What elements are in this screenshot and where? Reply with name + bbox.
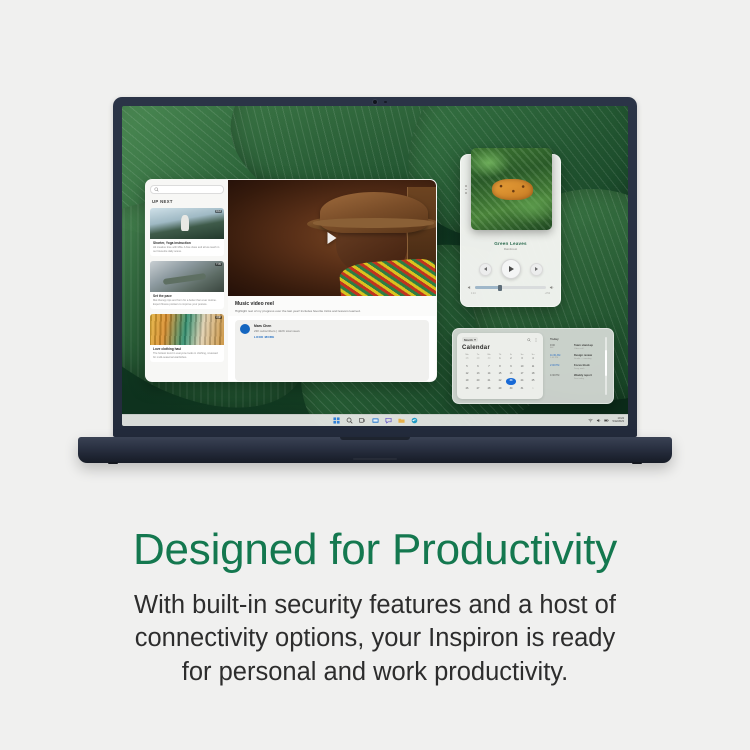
calendar-day[interactable]: 8 bbox=[495, 364, 505, 370]
search-icon bbox=[154, 187, 159, 192]
caption-line-1: With built-in security features and a ho… bbox=[70, 589, 680, 622]
event-row[interactable]: 9:00AMTeam stand-upVideo call bbox=[550, 344, 603, 350]
handle-dots-icon bbox=[465, 185, 467, 194]
list-item-desc: Mat therapy tips and form for a better t… bbox=[153, 299, 221, 306]
system-tray[interactable]: 10:24 5/12/2023 bbox=[588, 415, 624, 426]
chat-icon[interactable] bbox=[384, 417, 392, 425]
event-name: Team stand-up bbox=[574, 344, 593, 347]
calendar-day[interactable]: 27 bbox=[473, 386, 483, 392]
laptop-top-bezel bbox=[113, 97, 637, 106]
calendar-day[interactable]: 1 bbox=[528, 386, 538, 392]
calendar-day[interactable]: 11 bbox=[528, 364, 538, 370]
laptop-product-figure: UP NEXT 4:12 Shorter, Yoga instruction H… bbox=[0, 0, 750, 500]
calendar-day[interactable]: 6 bbox=[473, 364, 483, 370]
events-title: Today bbox=[550, 337, 603, 341]
track-artist: Rainforest bbox=[461, 247, 560, 251]
caption-block: Designed for Productivity With built-in … bbox=[0, 525, 750, 689]
caption-line-3: for personal and work productivity. bbox=[70, 656, 680, 689]
remaining-time: -2:52 bbox=[545, 293, 550, 295]
file-explorer-icon[interactable] bbox=[371, 417, 379, 425]
clock[interactable]: 10:24 5/12/2023 bbox=[612, 418, 624, 424]
laptop-foot bbox=[108, 462, 118, 464]
list-item-title: Love clothing haul bbox=[153, 347, 221, 351]
look-more-button[interactable]: LOOK MORE bbox=[254, 335, 300, 339]
list-item-meta: Shorter, Yoga instruction Hit creative t… bbox=[150, 239, 224, 256]
page-title: Music video reel bbox=[235, 301, 429, 307]
wifi-icon[interactable] bbox=[588, 418, 593, 423]
event-time-start: 4:30 PM bbox=[550, 374, 569, 377]
progress-fill bbox=[475, 286, 500, 289]
calendar-day[interactable]: 15 bbox=[495, 371, 505, 377]
calendar-day[interactable]: 5 bbox=[462, 364, 472, 370]
event-sub: Due today bbox=[574, 378, 592, 380]
event-row[interactable]: 4:30 PMWeekly reportDue today bbox=[550, 374, 603, 380]
calendar-day[interactable]: 28 bbox=[484, 386, 494, 392]
video-thumbnail: 3:48 bbox=[150, 314, 224, 345]
channel-stats: 23K subscribers | 422K total views bbox=[254, 329, 300, 333]
calendar-day-grid[interactable]: 2829301234567891011121314151617181920212… bbox=[462, 356, 538, 392]
calendar-day[interactable]: 13 bbox=[473, 371, 483, 377]
progress-bar[interactable] bbox=[467, 285, 554, 290]
search-icon[interactable] bbox=[345, 417, 353, 425]
music-controls bbox=[461, 259, 560, 279]
list-item[interactable]: 3:48 Love clothing haul The hottest tren… bbox=[150, 314, 224, 362]
caption-line-2: connectivity options, your Inspiron is r… bbox=[70, 622, 680, 655]
scrollbar[interactable] bbox=[605, 337, 607, 395]
more-vertical-icon[interactable] bbox=[534, 338, 538, 342]
calendar-day[interactable]: 16 bbox=[506, 371, 516, 377]
video-app-window[interactable]: UP NEXT 4:12 Shorter, Yoga instruction H… bbox=[145, 179, 437, 382]
progress-track[interactable] bbox=[475, 286, 546, 289]
progress-handle[interactable] bbox=[498, 285, 502, 291]
calendar-day[interactable]: 29 bbox=[495, 386, 505, 392]
calendar-day[interactable]: 30 bbox=[484, 356, 494, 362]
event-time: 11:30 AM1:00 PM bbox=[550, 354, 569, 359]
avatar bbox=[240, 324, 250, 334]
previous-track-icon bbox=[484, 267, 487, 271]
list-item-meta: Love clothing haul The hottest trend in … bbox=[150, 345, 224, 362]
volume-icon[interactable] bbox=[596, 418, 601, 423]
video-thumbnail: 4:12 bbox=[150, 208, 224, 239]
list-item[interactable]: 7:05 Set the pace Mat therapy tips and f… bbox=[150, 261, 224, 309]
caption-body: With built-in security features and a ho… bbox=[0, 589, 750, 688]
next-track-icon bbox=[535, 267, 538, 271]
calendar-day[interactable]: 3 bbox=[517, 356, 527, 362]
volume-low-icon bbox=[467, 285, 472, 290]
list-item-desc: The hottest trend in everyone looks in c… bbox=[153, 352, 221, 359]
event-time-start: 2:00 PM bbox=[550, 364, 569, 367]
elapsed-time: 1:14 bbox=[471, 293, 475, 295]
laptop-foot bbox=[632, 462, 642, 464]
music-player-widget[interactable]: Green Leaves Rainforest bbox=[460, 154, 561, 307]
event-time: 9:00AM bbox=[550, 344, 569, 349]
calendar-day[interactable]: 17 bbox=[517, 371, 527, 377]
calendar-day[interactable]: 22 bbox=[495, 378, 505, 384]
hat-crown bbox=[320, 192, 428, 234]
play-button[interactable] bbox=[501, 259, 521, 279]
calendar-actions bbox=[527, 338, 538, 342]
task-view-icon[interactable] bbox=[358, 417, 366, 425]
calendar-day[interactable]: 10 bbox=[517, 364, 527, 370]
calendar-day-selected[interactable]: 23 bbox=[506, 378, 516, 384]
list-item-desc: Hit creative time with Mila. A free clas… bbox=[153, 246, 221, 253]
calendar-day[interactable]: 2 bbox=[506, 356, 516, 362]
event-row[interactable]: 11:30 AM1:00 PMDesign reviewStudio — mee… bbox=[550, 354, 603, 360]
search-icon[interactable] bbox=[527, 338, 531, 342]
taskbar-icons bbox=[332, 417, 418, 425]
calendar-day[interactable]: 21 bbox=[484, 378, 494, 384]
page-title: Designed for Productivity bbox=[0, 525, 750, 574]
video-thumbnail: 7:05 bbox=[150, 261, 224, 292]
event-body: Focus blockDeep work bbox=[574, 364, 590, 370]
channel-text: Mars Chen 23K subscribers | 422K total v… bbox=[254, 324, 300, 339]
calendar-day[interactable]: 1 bbox=[495, 356, 505, 362]
channel-card[interactable]: Mars Chen 23K subscribers | 422K total v… bbox=[235, 320, 429, 381]
event-name: Design review bbox=[574, 354, 592, 357]
calendar-day[interactable]: 4 bbox=[528, 356, 538, 362]
event-sub: Deep work bbox=[574, 368, 590, 370]
channel-name: Mars Chen bbox=[254, 324, 300, 328]
month-label: Month bbox=[464, 338, 473, 342]
webcam-icon bbox=[373, 100, 377, 104]
list-item-title: Set the pace bbox=[153, 294, 221, 298]
duration-badge: 3:48 bbox=[215, 316, 222, 319]
music-meta: Green Leaves Rainforest bbox=[461, 241, 560, 251]
list-item[interactable]: 4:12 Shorter, Yoga instruction Hit creat… bbox=[150, 208, 224, 256]
calendar-day[interactable]: 7 bbox=[484, 364, 494, 370]
calendar-widget[interactable]: Month bbox=[452, 328, 614, 404]
chevron-down-icon bbox=[474, 339, 476, 341]
event-time-end: AM bbox=[550, 347, 569, 349]
battery-icon[interactable] bbox=[604, 418, 609, 423]
search-input[interactable] bbox=[150, 185, 224, 194]
folder-icon[interactable] bbox=[397, 417, 405, 425]
calendar-day[interactable]: 29 bbox=[473, 356, 483, 362]
video-main-pane: Music video reel Highlight reel of my pr… bbox=[228, 180, 436, 381]
calendar-day[interactable]: 24 bbox=[517, 378, 527, 384]
calendar-day[interactable]: 25 bbox=[528, 378, 538, 384]
windows-taskbar[interactable]: 10:24 5/12/2023 bbox=[122, 414, 628, 426]
calendar-events-panel: Today 9:00AMTeam stand-upVideo call11:30… bbox=[543, 333, 609, 399]
laptop-base bbox=[78, 437, 672, 463]
infrared-sensor-icon bbox=[384, 101, 387, 103]
event-time-end: 1:00 PM bbox=[550, 357, 569, 359]
month-selector[interactable]: Month bbox=[462, 337, 478, 342]
previous-track-button[interactable] bbox=[479, 263, 492, 276]
video-sidebar: UP NEXT 4:12 Shorter, Yoga instruction H… bbox=[146, 180, 228, 381]
event-time: 2:00 PM bbox=[550, 364, 569, 367]
album-art bbox=[471, 148, 552, 230]
calendar-day[interactable]: 28 bbox=[462, 356, 472, 362]
events-list: 9:00AMTeam stand-upVideo call11:30 AM1:0… bbox=[550, 344, 603, 380]
clock-date: 5/12/2023 bbox=[612, 420, 624, 423]
list-item-title: Shorter, Yoga instruction bbox=[153, 241, 221, 245]
event-sub: Studio — meeting bbox=[574, 358, 592, 360]
event-body: Team stand-upVideo call bbox=[574, 344, 593, 350]
calendar-day[interactable]: 31 bbox=[517, 386, 527, 392]
duration-badge: 4:12 bbox=[215, 210, 222, 213]
jaguar-figure bbox=[492, 179, 533, 200]
laptop-screen: UP NEXT 4:12 Shorter, Yoga instruction H… bbox=[122, 106, 628, 426]
calendar-day[interactable]: 20 bbox=[473, 378, 483, 384]
next-track-button[interactable] bbox=[530, 263, 543, 276]
event-name: Focus block bbox=[574, 364, 590, 367]
calendar-day[interactable]: 18 bbox=[528, 371, 538, 377]
calendar-panel: Month bbox=[457, 333, 543, 399]
calendar-day[interactable]: 12 bbox=[462, 371, 472, 377]
video-description: Highlight reel of my progress over the l… bbox=[235, 309, 429, 313]
duration-badge: 7:05 bbox=[215, 263, 222, 266]
event-body: Weekly reportDue today bbox=[574, 374, 592, 380]
calendar-day[interactable]: 19 bbox=[462, 378, 472, 384]
page-title: Calendar bbox=[462, 345, 538, 351]
list-item-meta: Set the pace Mat therapy tips and form f… bbox=[150, 292, 224, 309]
event-row[interactable]: 2:00 PMFocus blockDeep work bbox=[550, 364, 603, 370]
event-time: 4:30 PM bbox=[550, 374, 569, 377]
edge-icon[interactable] bbox=[410, 417, 418, 425]
calendar-day[interactable]: 9 bbox=[506, 364, 516, 370]
track-title: Green Leaves bbox=[461, 241, 560, 246]
up-next-label: UP NEXT bbox=[150, 197, 224, 205]
play-icon bbox=[509, 266, 514, 272]
video-stage[interactable] bbox=[228, 180, 436, 296]
base-notch bbox=[353, 458, 397, 460]
video-info: Music video reel Highlight reel of my pr… bbox=[228, 296, 436, 316]
calendar-day[interactable]: 30 bbox=[506, 386, 516, 392]
calendar-day[interactable]: 14 bbox=[484, 371, 494, 377]
calendar-day[interactable]: 26 bbox=[462, 386, 472, 392]
play-icon[interactable] bbox=[328, 232, 337, 244]
event-sub: Video call bbox=[574, 348, 593, 350]
laptop-lid: UP NEXT 4:12 Shorter, Yoga instruction H… bbox=[113, 97, 637, 437]
event-body: Design reviewStudio — meeting bbox=[574, 354, 592, 360]
calendar-toolbar: Month bbox=[462, 337, 538, 342]
event-name: Weekly report bbox=[574, 374, 592, 377]
start-icon[interactable] bbox=[332, 417, 340, 425]
volume-icon[interactable] bbox=[549, 285, 554, 290]
progress-times: 1:14 -2:52 bbox=[471, 293, 550, 295]
